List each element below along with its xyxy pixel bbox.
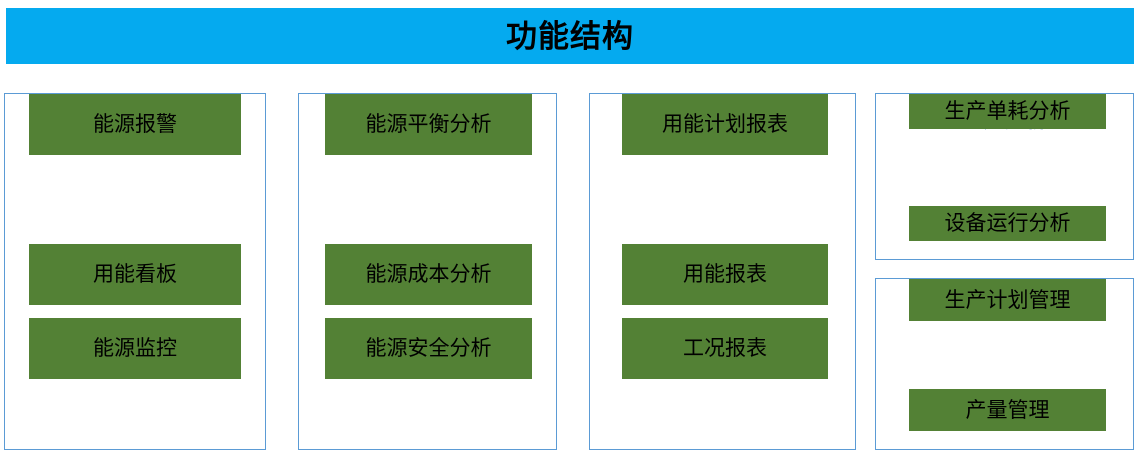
item-box-energy-plan-report[interactable]: 用能计划报表 [622,94,828,155]
panel-production-analysis: 生产分析 设备运行分析 生产单耗分析 [875,93,1134,260]
diagram-canvas: 功能结构 能源管控 用能看板 能源监控 能源报警 能源分析 能源成本分析 能源安… [0,0,1140,458]
page-title: 功能结构 [506,21,634,52]
item-box-energy-balance-analysis[interactable]: 能源平衡分析 [325,94,532,155]
item-box-working-condition-report[interactable]: 工况报表 [622,318,828,379]
item-box-energy-alarm[interactable]: 能源报警 [29,94,241,155]
panel-energy-analysis: 能源分析 能源成本分析 能源安全分析 能源平衡分析 [298,93,557,450]
item-box-energy-monitoring[interactable]: 能源监控 [29,318,241,379]
item-box-production-unit-consumption-analysis[interactable]: 生产单耗分析 [909,94,1106,129]
panel-production-data-management: 生产数据管理 产量管理 生产计划管理 [875,278,1134,450]
item-box-energy-cost-analysis[interactable]: 能源成本分析 [325,244,532,305]
header-banner: 功能结构 [6,8,1134,64]
item-box-production-plan-management[interactable]: 生产计划管理 [909,279,1106,321]
item-box-equipment-operation-analysis[interactable]: 设备运行分析 [909,206,1106,241]
panel-energy-reports: 能源报表 用能报表 工况报表 用能计划报表 [589,93,856,450]
item-box-energy-dashboard[interactable]: 用能看板 [29,244,241,305]
item-box-energy-safety-analysis[interactable]: 能源安全分析 [325,318,532,379]
item-box-output-management[interactable]: 产量管理 [909,389,1106,431]
item-box-energy-usage-report[interactable]: 用能报表 [622,244,828,305]
panel-energy-control: 能源管控 用能看板 能源监控 能源报警 [4,93,266,450]
